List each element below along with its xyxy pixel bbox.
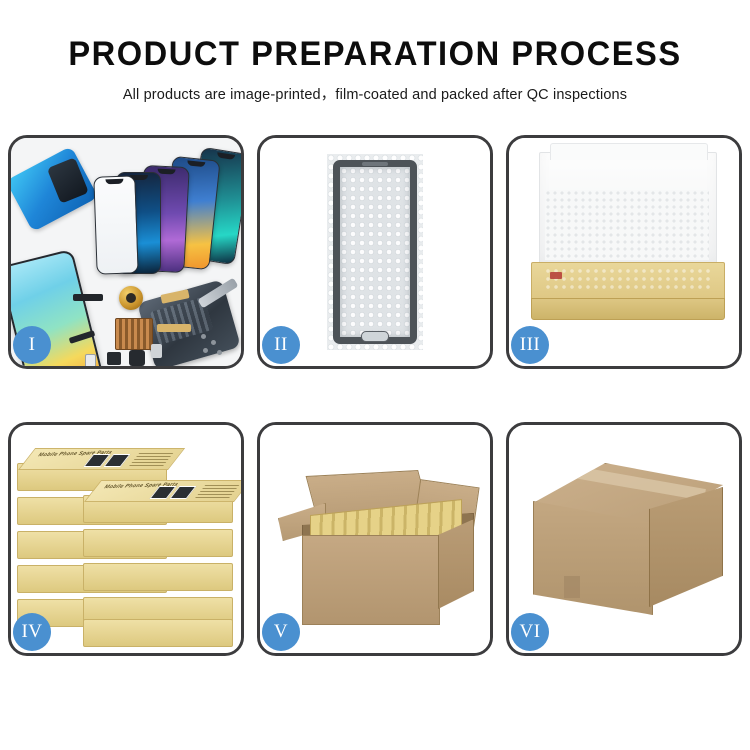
step-panel-4: Mobile Phone Spare Parts Mobile Phone Sp… — [8, 422, 244, 656]
carton-front-face — [302, 535, 440, 625]
screw-icon — [203, 348, 208, 353]
step-panel-3: III — [506, 135, 742, 369]
sealed-shipping-carton — [533, 463, 721, 621]
wrapped-phone-screen — [333, 160, 417, 344]
step-panel-1: I — [8, 135, 244, 369]
screw-icon — [211, 340, 216, 345]
copper-coil-part — [119, 286, 143, 310]
bubble-wrap-sheet — [327, 154, 423, 350]
notch-icon — [157, 169, 175, 175]
step-badge-3: III — [511, 326, 549, 364]
small-part-2 — [129, 350, 145, 366]
phone-display-fan — [73, 150, 241, 275]
chip-grid-part — [115, 318, 153, 350]
kraft-box-stack: Mobile Phone Spare Parts Mobile Phone Sp… — [17, 439, 239, 645]
kraft-box: Mobile Phone Spare Parts — [83, 495, 233, 523]
screws-group — [201, 334, 227, 356]
step-panel-6: VI — [506, 422, 742, 656]
product-preparation-infographic: PRODUCT PREPARATION PROCESS All products… — [0, 0, 750, 750]
kraft-box — [83, 529, 233, 557]
kraft-box — [83, 563, 233, 591]
packing-tape — [556, 463, 706, 501]
tape-patch-top — [564, 576, 580, 598]
kraft-box — [83, 619, 233, 647]
step-badge-2: II — [262, 326, 300, 364]
earpiece-icon — [362, 162, 388, 166]
step-badge-4: IV — [13, 613, 51, 651]
packed-screen-item — [544, 267, 714, 293]
notch-icon — [187, 160, 205, 167]
gold-flex-part-2 — [157, 324, 191, 332]
phone-display-1 — [93, 175, 138, 274]
box-spec-lines — [129, 452, 174, 466]
sim-tray-part — [85, 354, 96, 366]
open-shipping-carton — [288, 461, 472, 627]
page-title: PRODUCT PREPARATION PROCESS — [15, 34, 735, 74]
step-badge-6: VI — [511, 613, 549, 651]
camera-module-part — [151, 344, 162, 358]
kraft-box-front — [531, 298, 725, 320]
notch-icon — [105, 179, 123, 185]
notch-icon — [217, 152, 236, 160]
speaker-part — [73, 294, 103, 301]
step-badge-1: I — [13, 326, 51, 364]
screw-icon — [217, 350, 222, 355]
kraft-box-lid: Mobile Phone Spare Parts — [18, 448, 185, 470]
page-subtitle: All products are image-printed，film-coat… — [0, 83, 750, 104]
foam-insert — [545, 190, 709, 260]
screw-icon — [201, 334, 206, 339]
header: PRODUCT PREPARATION PROCESS All products… — [0, 0, 750, 104]
step-panel-2: II — [257, 135, 493, 369]
tape-patch-bottom — [564, 630, 580, 650]
home-button-icon — [361, 331, 389, 342]
process-steps-grid: I II I — [8, 135, 742, 690]
box-spec-lines — [195, 484, 240, 498]
step-badge-5: V — [262, 613, 300, 651]
small-part-1 — [107, 352, 121, 365]
step-panel-5: V — [257, 422, 493, 656]
kraft-box-lid: Mobile Phone Spare Parts — [84, 480, 241, 502]
